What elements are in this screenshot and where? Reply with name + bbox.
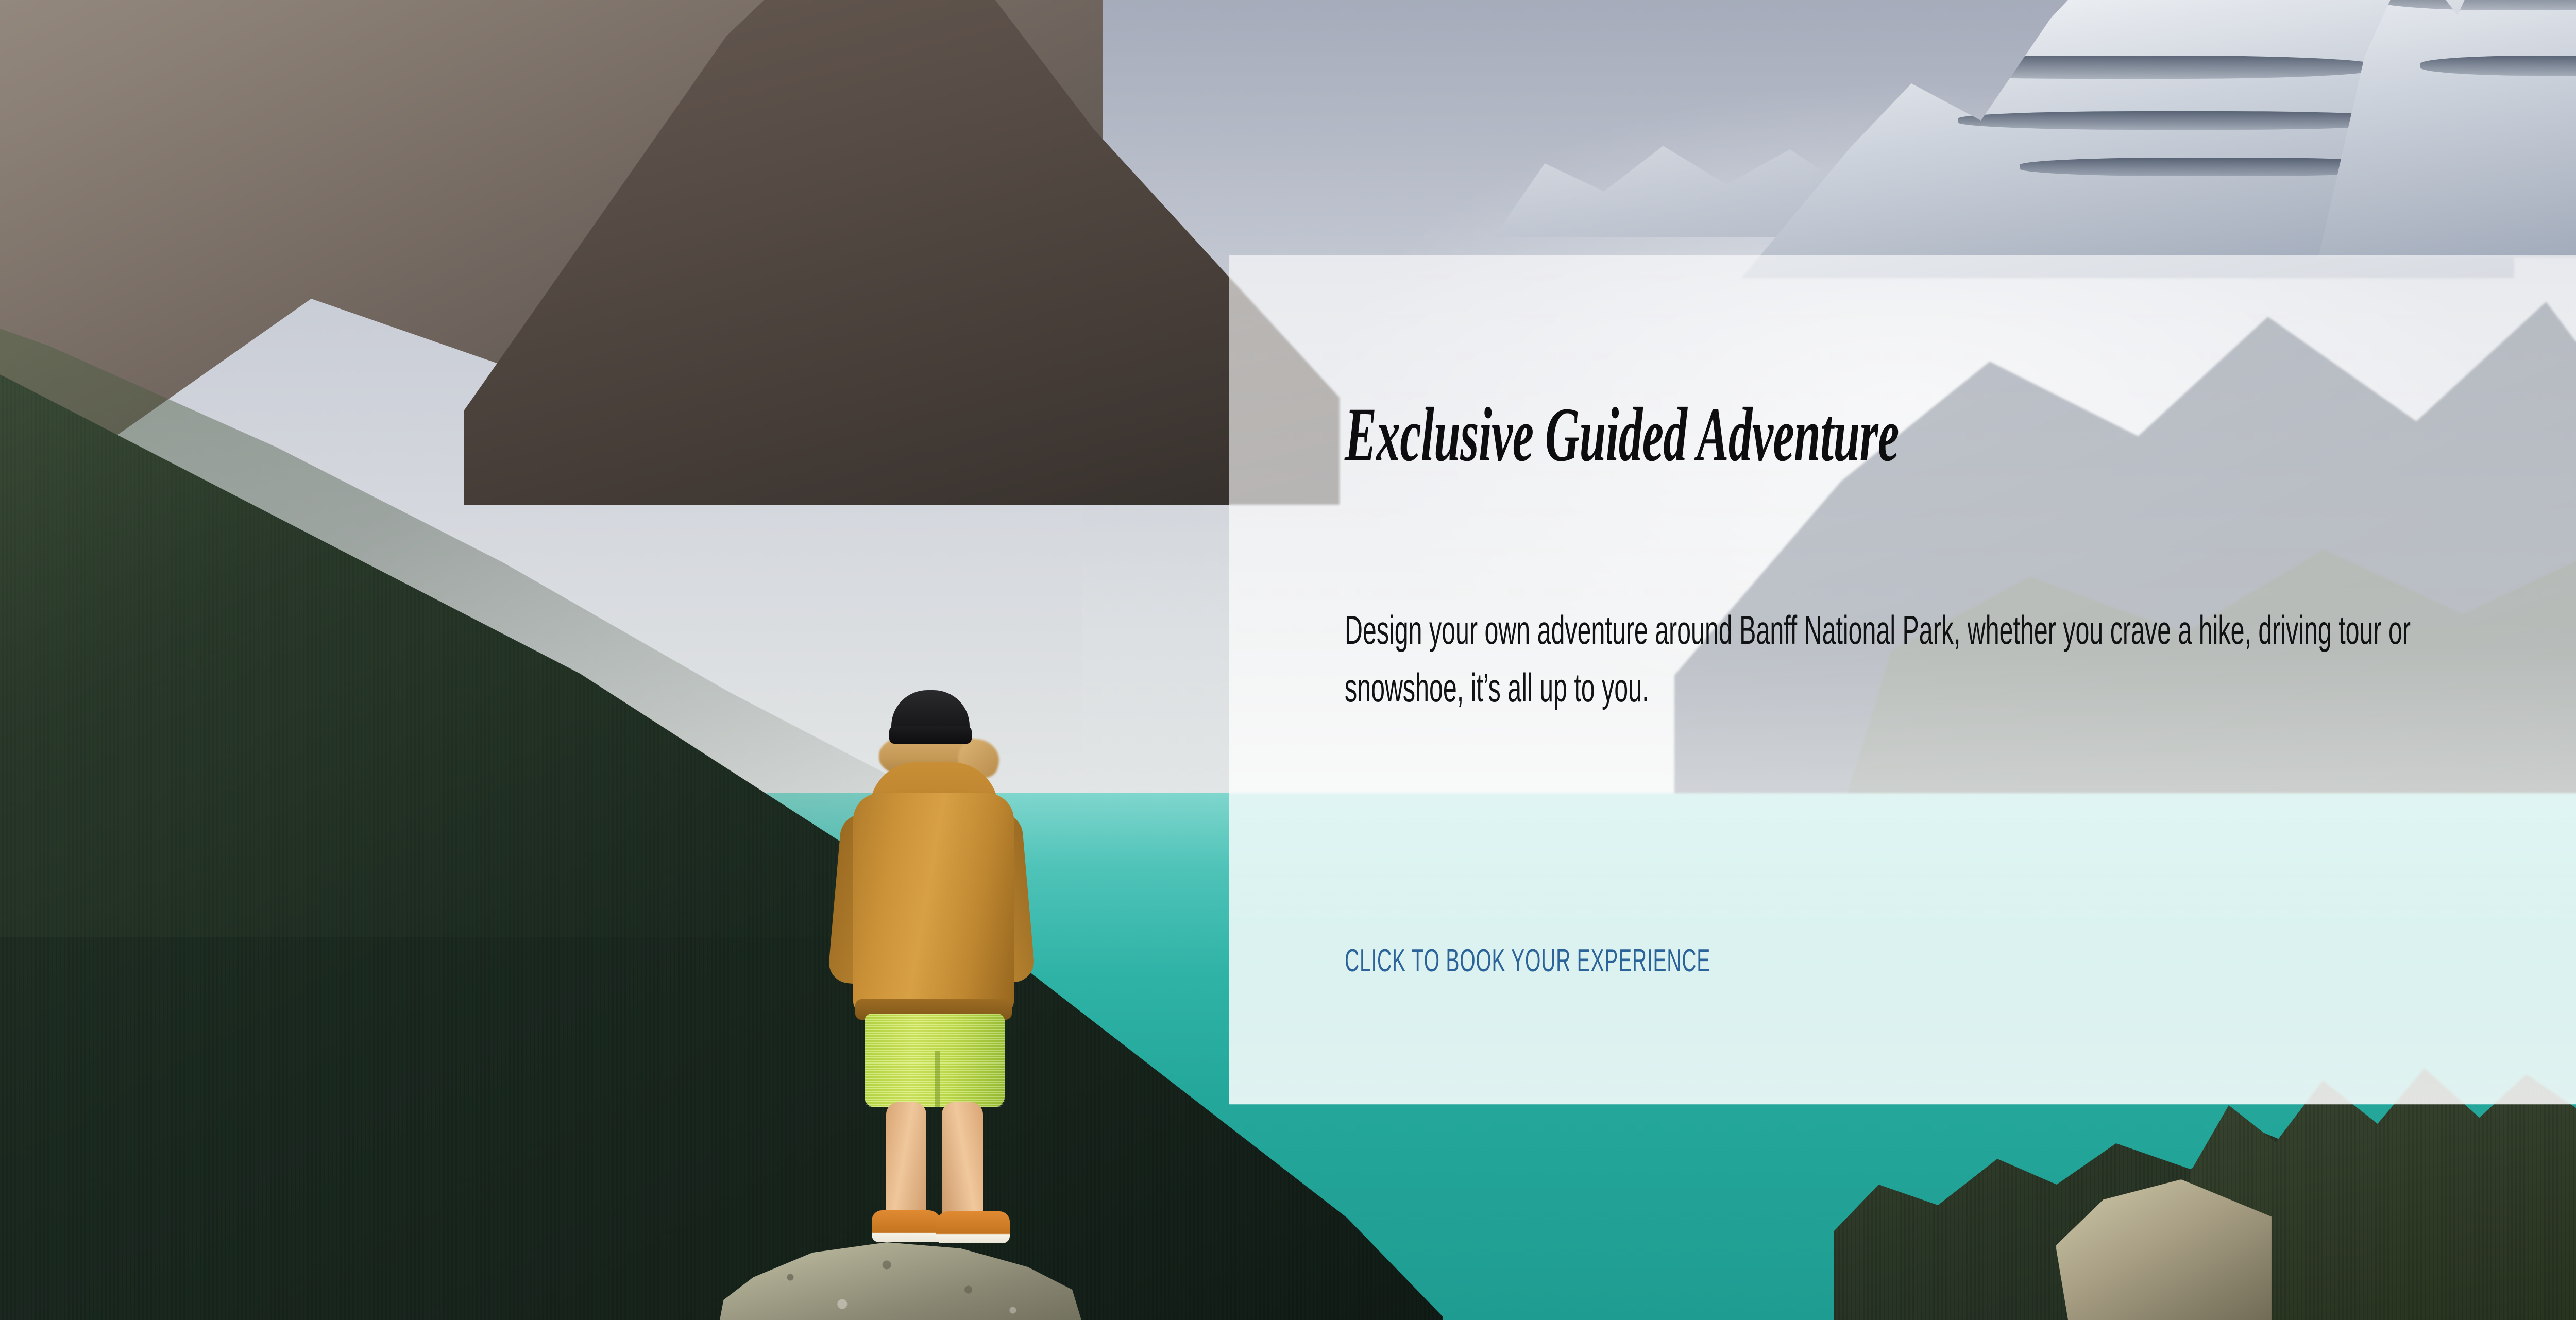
left-shoe [872,1210,942,1242]
right-leg [942,1102,983,1219]
hero-banner: Exclusive Guided Adventure Design your o… [0,0,2576,1320]
left-leg [886,1102,926,1219]
rock-band [1958,111,2406,130]
hiker-figure [804,690,1051,1277]
promo-description: Design your own adventure around Banff N… [1345,602,2035,716]
promo-card: Exclusive Guided Adventure Design your o… [1229,255,2576,1104]
shorts [865,1014,1005,1107]
promo-card-content: Exclusive Guided Adventure Design your o… [1345,255,2576,1104]
page-title: Exclusive Guided Adventure [1345,395,1899,475]
book-experience-link[interactable]: CLICK TO BOOK YOUR EXPERIENCE [1345,942,1710,979]
beanie-brim [889,726,972,744]
rock-band [2374,0,2576,10]
hoodie-body [853,793,1014,1015]
shorts-texture [865,1014,1005,1107]
right-shoe [936,1211,1010,1243]
promo-description-text: Design your own adventure around Banff N… [1345,602,2456,716]
rock-band [2420,56,2576,76]
